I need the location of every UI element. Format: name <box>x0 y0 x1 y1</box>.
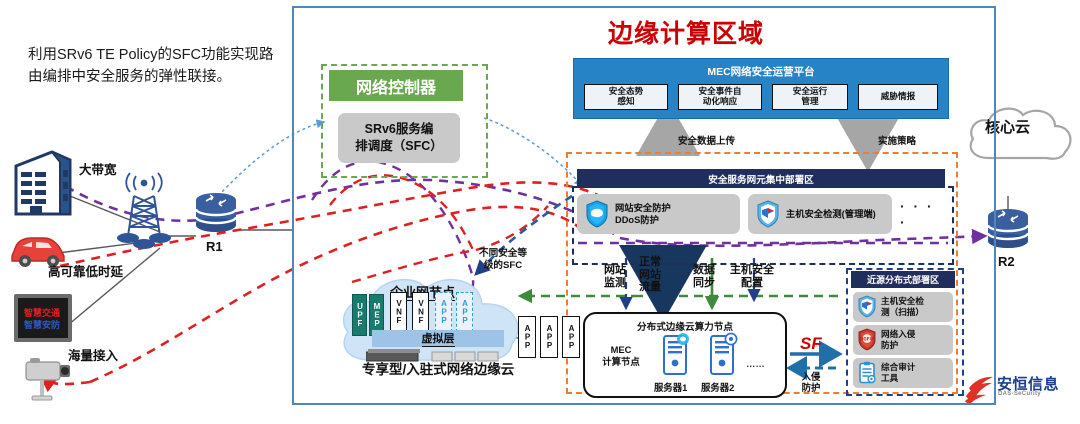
security-central-deploy-area: 安全服务网元集中部署区 网站安全防护 DDoS防护 <box>577 169 945 239</box>
shield-host-icon <box>756 200 780 228</box>
router-r2-label: R2 <box>998 254 1015 269</box>
servers-ellipsis: …… <box>746 358 765 369</box>
sfc-label-line1: 不同安全等 <box>479 248 527 259</box>
edge-cloud-bottom-label: 专享型/入驻式网络边缘云 <box>362 358 514 378</box>
near-item-0-line1: 主机安全检 <box>881 296 924 307</box>
vnf-block-2: VNF <box>412 292 429 332</box>
app-block-1: APP <box>518 316 536 358</box>
mec-cell-security-operations[interactable]: 安全运行 管理 <box>772 84 848 110</box>
host-config-line2: 配置 <box>741 277 763 289</box>
mec-cell-situation-awareness[interactable]: 安全态势 感知 <box>584 84 668 110</box>
app-block-3: APP <box>562 316 580 358</box>
service-card-web-protection[interactable]: 网站安全防护 DDoS防护 <box>577 194 740 234</box>
label-data-sync: 数据 同步 <box>688 264 720 289</box>
upf-block: UPF <box>352 294 367 336</box>
near-source-header: 近源分布式部署区 <box>851 271 955 288</box>
shield-cloud-icon <box>585 200 609 228</box>
das-security-logo: 安恒信息 DAS-SeCurity <box>963 372 1075 406</box>
security-central-cards: 网站安全防护 DDoS防护 主机安全检测(管理端) · · · · <box>577 192 945 236</box>
ips-line1: 入侵 <box>802 371 821 382</box>
mec-cell-incident-response[interactable]: 安全事件自 动化响应 <box>678 84 762 110</box>
mec-cell-threat-intelligence[interactable]: 威胁情报 <box>858 84 938 110</box>
logo-english-text: DAS-SeCurity <box>998 391 1041 397</box>
app-block-2: APP <box>540 316 558 358</box>
display-screen-icon: 智慧交通 智慧安防 <box>12 292 74 344</box>
label-site-monitoring: 网站 监测 <box>598 264 632 289</box>
server-1-icon <box>660 332 692 378</box>
mec-cell-0-line1: 安全态势 <box>609 86 643 96</box>
mec-cell-0-line2: 感知 <box>617 96 634 106</box>
building-icon <box>12 148 74 220</box>
svg-text:智慧交通: 智慧交通 <box>24 307 60 319</box>
logo-mark-icon <box>963 374 995 404</box>
mec-platform-title: MEC网络安全运营平台 <box>574 64 948 79</box>
virtual-layer-label: 虚拟层 <box>422 330 455 347</box>
sfc-label-line2: 级的SFC <box>484 260 522 271</box>
service-cards-ellipsis: · · · · <box>900 198 945 230</box>
mec-cell-2-line1: 安全运行 <box>793 86 827 96</box>
near-item-network-ips[interactable]: NGFW 网络入侵 防护 <box>853 325 953 355</box>
mec-node-line1: MEC <box>611 344 632 355</box>
svg-text:NGFW: NGFW <box>860 336 875 341</box>
near-item-2-line2: 工具 <box>881 373 915 384</box>
mec-node-line2: 计算节点 <box>602 356 640 367</box>
security-camera-icon <box>18 352 82 412</box>
server-2-label: 服务器2 <box>701 380 734 394</box>
audit-clipboard-icon <box>857 361 877 385</box>
ips-line2: 防护 <box>802 382 821 393</box>
label-sfc-security-levels: 不同安全等 级的SFC <box>470 248 536 272</box>
near-item-host-scan[interactable]: 主机安全检 测（扫描） <box>853 292 953 322</box>
edge-computing-area-title: 边缘计算区域 <box>556 14 816 50</box>
normal-traffic-line3: 流量 <box>639 281 661 293</box>
near-item-2-line1: 综合审计 <box>881 362 915 373</box>
near-item-audit-tool[interactable]: 综合审计 工具 <box>853 358 953 388</box>
label-host-security-config: 主机安全 配置 <box>728 264 776 289</box>
near-item-1-line1: 网络入侵 <box>881 329 915 340</box>
router-r1-label: R1 <box>206 239 223 254</box>
vnf-block-1: VNF <box>390 292 407 332</box>
shield-scan-icon <box>857 295 877 319</box>
srv6-line-2: 排调度（SFC） <box>355 138 443 155</box>
service-card-host-detection[interactable]: 主机安全检测(管理端) <box>748 194 892 234</box>
security-central-header: 安全服务网元集中部署区 <box>577 169 945 188</box>
label-implement-policy: 实施策略 <box>878 133 916 147</box>
site-monitor-line2: 监测 <box>604 277 626 289</box>
near-item-0-line2: 测（扫描） <box>881 307 924 318</box>
label-intrusion-protection: 入侵 防护 <box>794 371 828 394</box>
service-card-0-line2: DDoS防护 <box>615 214 671 226</box>
mec-compute-node-label: MEC 计算节点 <box>593 344 649 368</box>
router-r1-icon <box>193 192 239 236</box>
server-2-icon <box>707 332 739 378</box>
srv6-line-1: SRv6服务编 <box>365 121 434 138</box>
server-1-label: 服务器1 <box>654 380 687 394</box>
app-block-dashed-2: APP <box>456 292 473 332</box>
near-source-deploy-area: 近源分布式部署区 主机安全检 测（扫描） NGFW 网络入侵 <box>851 271 955 389</box>
near-item-1-line2: 防护 <box>881 340 915 351</box>
label-security-data-upload: 安全数据上传 <box>678 133 735 147</box>
label-normal-traffic: 正常 网站 流量 <box>636 256 664 294</box>
intro-text: 利用SRv6 TE Policy的SFC功能实现路由编排中安全服务的弹性联接。 <box>28 44 278 89</box>
mec-cell-3-line1: 威胁情报 <box>881 92 915 102</box>
normal-traffic-line1: 正常 <box>639 256 661 268</box>
mec-capability-row: 安全态势 感知 安全事件自 动化响应 安全运行 管理 威胁情报 <box>584 83 938 110</box>
diagram-canvas: 利用SRv6 TE Policy的SFC功能实现路由编排中安全服务的弹性联接。 … <box>0 0 1080 424</box>
mec-cell-1-line2: 动化响应 <box>703 96 737 106</box>
sf-label: SF <box>800 334 822 354</box>
host-config-line1: 主机安全 <box>730 264 774 276</box>
network-controller-header: 网络控制器 <box>329 70 463 101</box>
ngfw-shield-icon: NGFW <box>857 328 877 352</box>
srv6-sfc-scheduler-box[interactable]: SRv6服务编 排调度（SFC） <box>338 113 460 163</box>
app-block-dashed-1: APP <box>435 292 452 332</box>
virtual-layer-bar: 虚拟层 <box>372 330 504 347</box>
mec-cell-1-line1: 安全事件自 <box>699 86 742 96</box>
base-station-antenna-icon <box>108 170 180 252</box>
mec-cell-2-line2: 管理 <box>801 96 818 106</box>
site-monitor-line1: 网站 <box>604 264 626 276</box>
normal-traffic-line2: 网站 <box>639 269 661 281</box>
data-sync-line1: 数据 <box>693 264 715 276</box>
svg-text:智慧安防: 智慧安防 <box>24 319 60 331</box>
service-card-0-line1: 网站安全防护 <box>615 202 671 214</box>
data-sync-line2: 同步 <box>693 277 715 289</box>
mec-security-platform: MEC网络安全运营平台 安全态势 感知 安全事件自 动化响应 安全运行 管理 <box>573 58 949 119</box>
caption-high-reliability-low-latency: 高可靠低时延 <box>48 261 123 280</box>
distributed-node-title: 分布式边缘云算力节点 <box>585 319 785 333</box>
service-card-1-line1: 主机安全检测(管理端) <box>786 208 876 220</box>
